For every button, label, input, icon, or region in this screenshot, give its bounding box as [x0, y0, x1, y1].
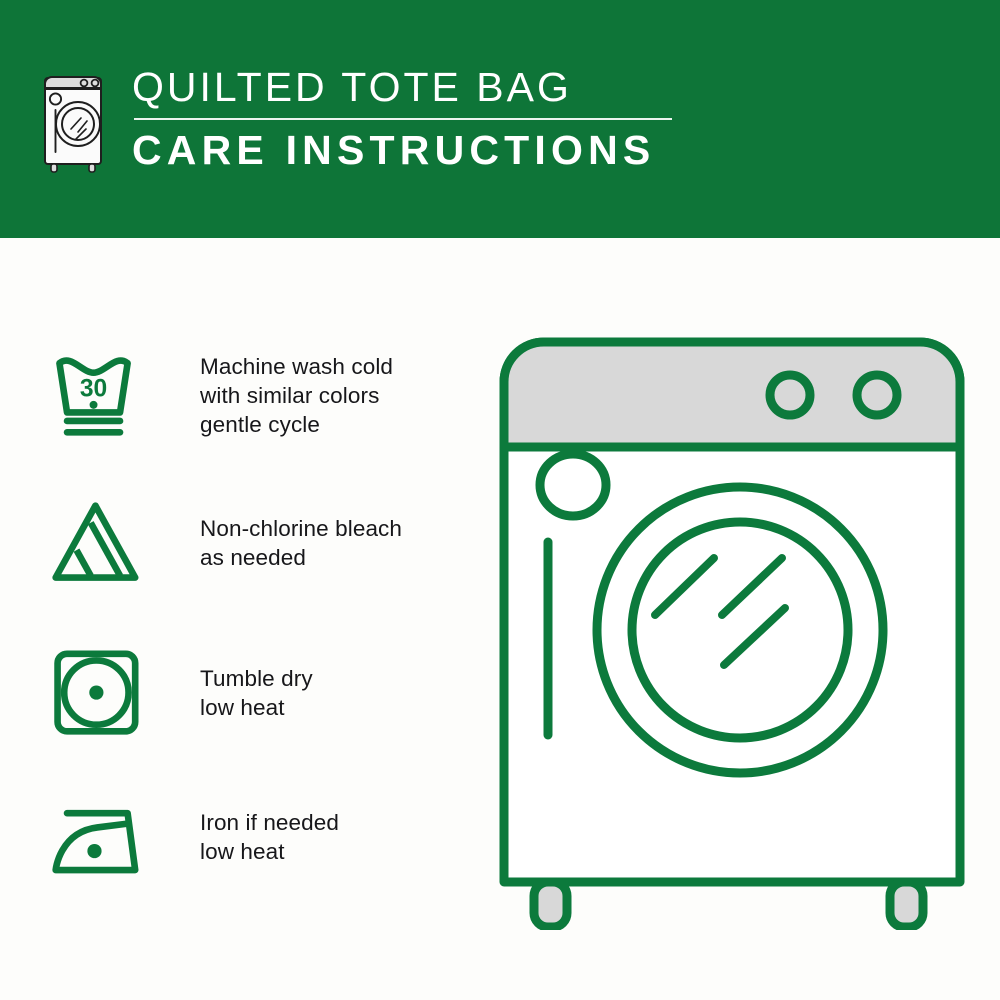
header-content: QUILTED TOTE BAG CARE INSTRUCTIONS	[40, 62, 672, 174]
non-chlorine-bleach-icon	[50, 490, 162, 591]
washing-machine-illustration	[492, 330, 972, 930]
iron-low-heat-icon	[50, 790, 162, 891]
list-item: 30 Machine wash cold with similar colors…	[50, 340, 470, 490]
care-instructions-page: QUILTED TOTE BAG CARE INSTRUCTIONS 30	[0, 0, 1000, 1000]
list-item-label: Iron if needed low heat	[162, 790, 339, 866]
page-title-product: QUILTED TOTE BAG	[132, 62, 672, 112]
list-item: Non-chlorine bleach as needed	[50, 490, 470, 640]
list-item: Tumble dry low heat	[50, 640, 470, 790]
tumble-dry-low-icon	[50, 640, 162, 741]
wash-temperature-value: 30	[80, 375, 107, 402]
leg-right	[890, 882, 923, 927]
header-band: QUILTED TOTE BAG CARE INSTRUCTIONS	[0, 0, 1000, 238]
list-item-label: Non-chlorine bleach as needed	[162, 490, 402, 572]
list-item-label: Tumble dry low heat	[162, 640, 313, 722]
washing-machine-icon	[40, 66, 106, 174]
care-instruction-list: 30 Machine wash cold with similar colors…	[50, 340, 470, 940]
title-divider	[134, 118, 672, 120]
machine-wash-icon: 30	[50, 340, 162, 441]
list-item-label: Machine wash cold with similar colors ge…	[162, 340, 393, 439]
page-title-care: CARE INSTRUCTIONS	[132, 126, 672, 174]
leg-left	[534, 882, 567, 927]
header-title-block: QUILTED TOTE BAG CARE INSTRUCTIONS	[132, 62, 672, 174]
list-item: Iron if needed low heat	[50, 790, 470, 940]
